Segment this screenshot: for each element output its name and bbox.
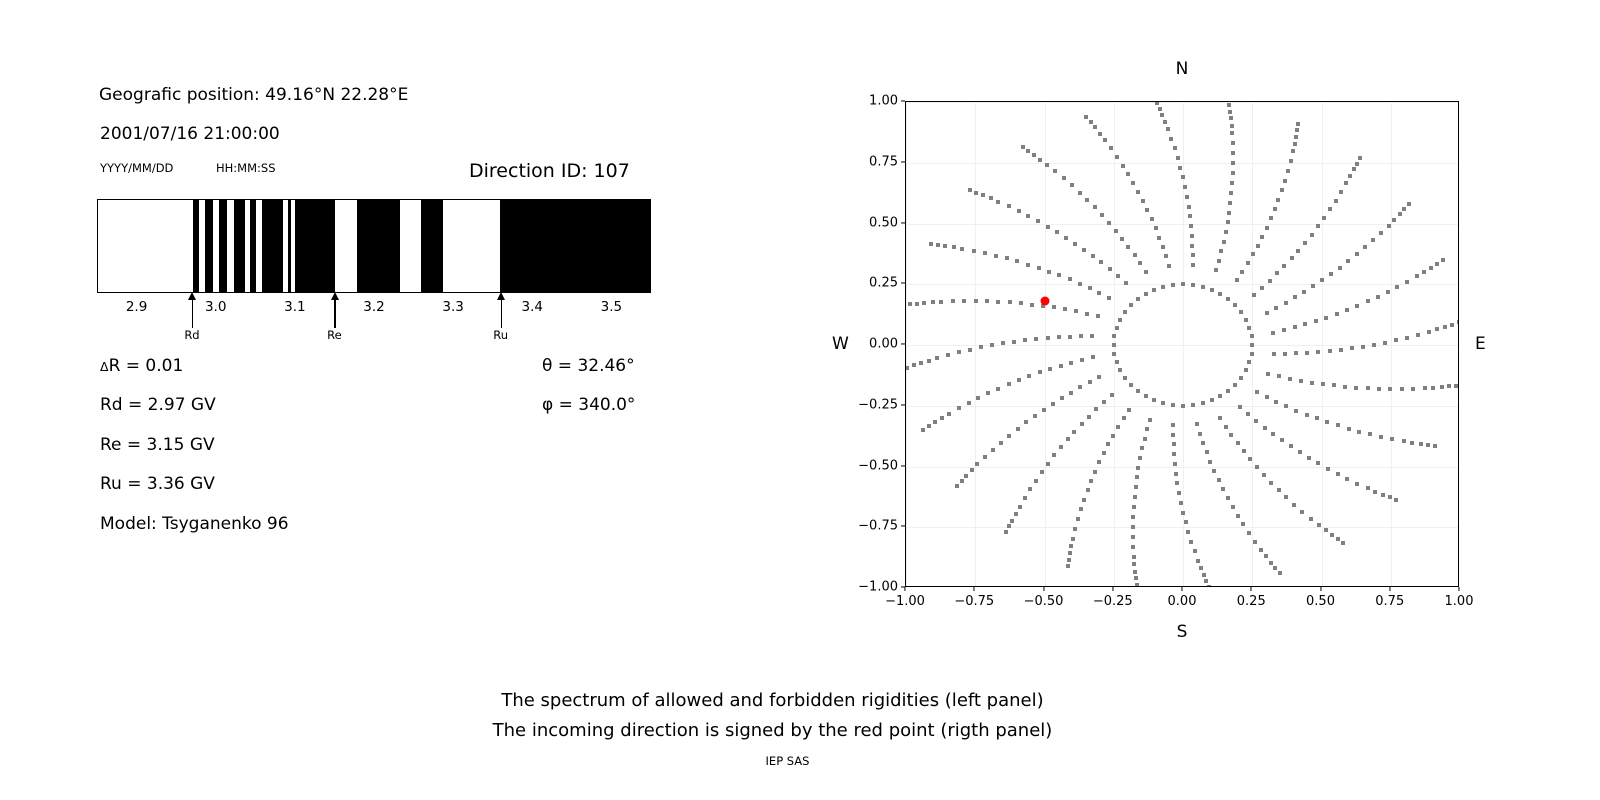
direction-dot (1098, 132, 1102, 136)
direction-dot (1435, 262, 1439, 266)
direction-dot (1381, 493, 1385, 497)
direction-dot (1199, 566, 1203, 570)
direction-dot (1426, 443, 1430, 447)
direction-dot (1034, 479, 1038, 483)
polar-x-tick-mark (1112, 587, 1113, 591)
direction-dot (1218, 292, 1222, 296)
direction-dot (1366, 386, 1370, 390)
direction-dot (1066, 437, 1070, 441)
marker-label: Rd (184, 328, 199, 342)
direction-dot (1250, 343, 1254, 347)
incoming-direction-point (1040, 297, 1049, 306)
direction-dot (1229, 433, 1233, 437)
direction-dot (1265, 311, 1269, 315)
direction-dot (1368, 432, 1372, 436)
spectrum-tick-label: 3.0 (205, 299, 226, 315)
direction-dot (1191, 253, 1195, 257)
direction-dot (1140, 446, 1144, 450)
direction-dot (1231, 141, 1235, 145)
direction-dot (957, 406, 961, 410)
direction-dot (1078, 385, 1082, 389)
polar-x-tick-label: 0.50 (1306, 594, 1335, 609)
footer-label: IEP SAS (0, 754, 1575, 768)
direction-dot (1440, 385, 1444, 389)
forbidden-band (250, 200, 256, 292)
direction-dot (1132, 555, 1136, 559)
direction-dot (1042, 408, 1046, 412)
direction-dot (1001, 341, 1005, 345)
forbidden-band (421, 200, 443, 292)
direction-dot (1057, 273, 1061, 277)
direction-dot (1171, 423, 1175, 427)
direction-dot (1219, 249, 1223, 253)
direction-dot (1376, 295, 1380, 299)
polar-x-tick-label: −1.00 (885, 594, 925, 609)
direction-dot (1226, 297, 1230, 301)
direction-dot (1161, 285, 1165, 289)
polar-y-tick-mark (901, 343, 905, 344)
direction-dot (1229, 116, 1233, 120)
direction-dot (1205, 450, 1209, 454)
direction-dot (1174, 472, 1178, 476)
direction-dot (1402, 439, 1406, 443)
direction-dot (936, 243, 940, 247)
direction-dot (1271, 432, 1275, 436)
direction-dot (1114, 229, 1118, 233)
direction-dot (1047, 270, 1051, 274)
direction-dot (1017, 378, 1021, 382)
direction-dot (1116, 425, 1120, 429)
direction-dot (1138, 261, 1142, 265)
direction-dot (1229, 191, 1233, 195)
param-ru: Ru = 3.36 GV (100, 474, 215, 494)
direction-dot (1454, 384, 1458, 388)
direction-dot (1429, 266, 1433, 270)
direction-dot (1283, 352, 1287, 356)
direction-dot (1027, 374, 1031, 378)
direction-dot (908, 302, 912, 306)
marker-label: Ru (493, 328, 508, 342)
compass-label-south: S (1177, 622, 1188, 642)
direction-dot (981, 193, 985, 197)
direction-dot (952, 245, 956, 249)
direction-dot (1271, 331, 1275, 335)
direction-dot (1247, 360, 1251, 364)
direction-dot (1094, 407, 1098, 411)
direction-dot (1097, 375, 1101, 379)
direction-dot (1352, 167, 1356, 171)
direction-dot (1277, 488, 1281, 492)
direction-dot (1276, 198, 1280, 202)
direction-dot (1457, 320, 1458, 324)
polar-x-tick-mark (1181, 587, 1182, 591)
compass-label-east: E (1475, 334, 1486, 354)
direction-dot (1088, 286, 1092, 290)
direction-dot (1293, 325, 1297, 329)
direction-dot (1348, 174, 1352, 178)
direction-dot (1435, 327, 1439, 331)
direction-dot (1242, 449, 1246, 453)
direction-dot (1388, 387, 1392, 391)
direction-dot (1079, 507, 1083, 511)
direction-dot (1201, 441, 1205, 445)
direction-dot (1357, 430, 1361, 434)
direction-dot (1089, 479, 1093, 483)
direction-dot (1282, 264, 1286, 268)
direction-dot (1028, 487, 1032, 491)
direction-dot (1166, 127, 1170, 131)
direction-dot (1298, 450, 1302, 454)
gridline-horizontal (906, 467, 1458, 468)
direction-dot (1284, 301, 1288, 305)
direction-dot (1383, 341, 1387, 345)
direction-dot (1269, 216, 1273, 220)
direction-dot (1007, 524, 1011, 528)
direction-dot (940, 416, 944, 420)
direction-dot (1121, 164, 1125, 168)
polar-y-tick-mark (901, 222, 905, 223)
direction-dot (1224, 230, 1228, 234)
direction-dot (1395, 285, 1399, 289)
direction-dot (1007, 434, 1011, 438)
direction-dot (1325, 420, 1329, 424)
direction-dot (1283, 179, 1287, 183)
direction-dot (1191, 283, 1195, 287)
direction-dot (1247, 326, 1251, 330)
direction-dot (1046, 336, 1050, 340)
direction-dot (1269, 481, 1273, 485)
direction-dot (1293, 295, 1297, 299)
direction-dot (1148, 418, 1152, 422)
direction-dot (1102, 451, 1106, 455)
direction-dot (1390, 437, 1394, 441)
direction-dot (1207, 585, 1211, 586)
direction-dot (1227, 103, 1231, 107)
direction-dot (1303, 241, 1307, 245)
direction-dot (1244, 368, 1248, 372)
direction-dot (994, 254, 998, 258)
direction-dot (1394, 498, 1398, 502)
direction-dot (1073, 242, 1077, 246)
direction-dot (1099, 260, 1103, 264)
direction-dot (1303, 322, 1307, 326)
direction-dot (1341, 541, 1345, 545)
direction-dot (1007, 204, 1011, 208)
direction-dot (1231, 151, 1235, 155)
direction-dot (1070, 183, 1074, 187)
marker-shaft (192, 298, 193, 328)
direction-dot (1152, 398, 1156, 402)
direction-dot (1226, 220, 1230, 224)
direction-dot (1256, 244, 1260, 248)
polar-x-tick-label: 0.25 (1237, 594, 1266, 609)
direction-dot (1026, 263, 1030, 267)
direction-dot (1136, 297, 1140, 301)
direction-dot (1377, 387, 1381, 391)
direction-dot (1131, 181, 1135, 185)
direction-dot (1326, 467, 1330, 471)
direction-dot (1248, 457, 1252, 461)
direction-dot (1181, 282, 1185, 286)
incoming-direction-panel: −1.00−0.75−0.50−0.250.000.250.500.751.00… (905, 101, 1459, 587)
direction-dot (1073, 527, 1077, 531)
direction-dot (1059, 364, 1063, 368)
direction-dot (1415, 274, 1419, 278)
direction-dot (1080, 422, 1084, 426)
direction-dot (1063, 307, 1067, 311)
polar-x-tick-mark (1320, 587, 1321, 591)
direction-dot (1136, 190, 1140, 194)
direction-dot (1091, 254, 1095, 258)
direction-dot (1262, 473, 1266, 477)
direction-dot (1038, 370, 1042, 374)
direction-dot (1069, 391, 1073, 395)
direction-dot (1339, 348, 1343, 352)
spectrum-tick-label: 3.4 (522, 299, 543, 315)
polar-y-tick-label: 1.00 (869, 94, 898, 109)
direction-dot (1300, 510, 1304, 514)
delta-symbol: Δ (100, 359, 109, 374)
direction-dot (1055, 230, 1059, 234)
gridline-vertical (1045, 102, 1046, 586)
direction-dot (1048, 367, 1052, 371)
direction-dot (1244, 318, 1248, 322)
param-theta: θ = 32.46° (542, 356, 635, 376)
direction-dot (1218, 416, 1222, 420)
direction-dot (1363, 245, 1367, 249)
direction-dot (1416, 333, 1420, 337)
direction-dot (1355, 162, 1359, 166)
direction-dot (960, 479, 964, 483)
direction-dot (1322, 216, 1326, 220)
direction-dot (1090, 334, 1094, 338)
direction-dot (1230, 124, 1234, 128)
polar-y-tick-label: 0.25 (869, 276, 898, 291)
marker-label: Re (327, 328, 342, 342)
direction-dot (1132, 562, 1136, 566)
direction-dot (1089, 120, 1093, 124)
direction-dot (1076, 517, 1080, 521)
rigidity-spectrum-chart (97, 199, 651, 293)
direction-dot (1103, 138, 1107, 142)
direction-dot (1102, 400, 1106, 404)
polar-plot-area (906, 102, 1458, 586)
direction-dot (1320, 278, 1324, 282)
direction-dot (1433, 444, 1437, 448)
direction-dot (1157, 236, 1161, 240)
direction-dot (962, 299, 966, 303)
direction-dot (927, 359, 931, 363)
direction-dot (933, 420, 937, 424)
direction-dot (991, 448, 995, 452)
direction-dot (1181, 511, 1185, 515)
figure-caption: The spectrum of allowed and forbidden ri… (0, 686, 1545, 746)
direction-dot (1046, 462, 1050, 466)
direction-dot (964, 474, 968, 478)
direction-dot (929, 242, 933, 246)
direction-dot (1084, 115, 1088, 119)
direction-dot (1250, 334, 1254, 338)
direction-dot (1210, 398, 1214, 402)
direction-dot (1108, 267, 1112, 271)
direction-dot (955, 484, 959, 488)
direction-dot (1338, 266, 1342, 270)
direction-dot (1314, 319, 1318, 323)
geographic-position-label: Geografic position: 49.16°N 22.28°E (99, 85, 408, 105)
direction-dot (1144, 292, 1148, 296)
direction-dot (947, 412, 951, 416)
direction-dot (1230, 131, 1234, 135)
direction-dot (1443, 325, 1447, 329)
direction-dot (1328, 349, 1332, 353)
direction-dot (1111, 434, 1115, 438)
direction-dot (1010, 519, 1014, 523)
direction-dot (1064, 236, 1068, 240)
direction-dot (1204, 579, 1208, 583)
direction-dot (1171, 283, 1175, 287)
compass-label-west: W (832, 334, 849, 354)
direction-dot (1185, 195, 1189, 199)
direction-dot (1233, 303, 1237, 307)
direction-dot (1431, 386, 1435, 390)
direction-dot (1145, 208, 1149, 212)
direction-dot (1144, 394, 1148, 398)
direction-dot (1266, 372, 1270, 376)
direction-dot (1109, 146, 1113, 150)
direction-dot (1172, 452, 1176, 456)
direction-dot (1294, 351, 1298, 355)
direction-dot (1067, 558, 1071, 562)
direction-dot (1167, 264, 1171, 268)
direction-dot (1026, 214, 1030, 218)
forbidden-band (205, 200, 213, 292)
polar-y-tick-label: 0.75 (869, 154, 898, 169)
direction-dot (1093, 470, 1097, 474)
direction-dot (996, 300, 1000, 304)
direction-dot (1241, 522, 1245, 526)
direction-dot (1447, 384, 1451, 388)
direction-dot (906, 366, 909, 370)
spectrum-tick-label: 2.9 (126, 299, 147, 315)
direction-dot (1231, 505, 1235, 509)
polar-y-tick-mark (901, 161, 905, 162)
direction-dot (1183, 185, 1187, 189)
spectrum-tick-label: 3.2 (363, 299, 384, 315)
direction-dot (1309, 517, 1313, 521)
direction-dot (1405, 280, 1409, 284)
direction-dot (1040, 470, 1044, 474)
direction-dot (1045, 163, 1049, 167)
direction-dot (1127, 408, 1131, 412)
direction-dot (1228, 110, 1232, 114)
polar-y-tick-mark (901, 283, 905, 284)
polar-y-tick-label: 0.00 (869, 337, 898, 352)
direction-dot (1093, 125, 1097, 129)
direction-dot (1133, 570, 1137, 574)
direction-dot (1074, 309, 1078, 313)
polar-y-tick-mark (901, 404, 905, 405)
polar-x-tick-label: −0.50 (1024, 594, 1064, 609)
direction-dot (1086, 488, 1090, 492)
direction-dot (1082, 498, 1086, 502)
direction-dot (1402, 207, 1406, 211)
direction-dot (1091, 355, 1095, 359)
direction-dot (1187, 205, 1191, 209)
direction-dot (985, 299, 989, 303)
direction-dot (1038, 158, 1042, 162)
direction-dot (1280, 438, 1284, 442)
direction-dot (1112, 352, 1116, 356)
direction-dot (979, 345, 983, 349)
direction-dot (1253, 540, 1257, 544)
direction-dot (1259, 548, 1263, 552)
direction-dot (1175, 481, 1179, 485)
polar-x-tick-label: 0.75 (1375, 594, 1404, 609)
direction-dot (1005, 256, 1009, 260)
direction-dot (1145, 427, 1149, 431)
direction-dot (1181, 404, 1185, 408)
direction-dot (1198, 432, 1202, 436)
direction-dot (1126, 172, 1130, 176)
direction-dot (943, 244, 947, 248)
direction-dot (1186, 530, 1190, 534)
direction-dot (1293, 142, 1297, 146)
direction-dot (1218, 394, 1222, 398)
direction-dot (1021, 145, 1025, 149)
direction-dot (1317, 523, 1321, 527)
direction-dot (1222, 240, 1226, 244)
direction-dot (1288, 377, 1292, 381)
direction-dot (935, 356, 939, 360)
direction-dot (1115, 360, 1119, 364)
direction-dot (1344, 181, 1348, 185)
spectrum-plot-frame (97, 199, 651, 293)
direction-dot (1260, 235, 1264, 239)
direction-dot (1134, 485, 1138, 489)
direction-dot (1158, 107, 1162, 111)
direction-dot (1295, 128, 1299, 132)
direction-dot (1290, 256, 1294, 260)
direction-dot (1358, 156, 1362, 160)
param-model: Model: Tsyganenko 96 (100, 514, 289, 534)
direction-dot (968, 348, 972, 352)
direction-dot (1030, 303, 1034, 307)
direction-dot (1136, 389, 1140, 393)
compass-label-north: N (1176, 59, 1189, 79)
direction-dot (1214, 268, 1218, 272)
direction-dot (1123, 310, 1127, 314)
direction-dot (1132, 505, 1136, 509)
param-re: Re = 3.15 GV (100, 435, 215, 455)
direction-dot (1179, 501, 1183, 505)
direction-dot (1330, 533, 1334, 537)
direction-dot (1118, 368, 1122, 372)
spectrum-tick-label: 3.3 (442, 299, 463, 315)
spectrum-marker-rd: Rd (192, 292, 193, 332)
direction-dot (999, 441, 1003, 445)
direction-dot (1012, 340, 1016, 344)
direction-dot (1066, 564, 1070, 568)
direction-dot (1233, 383, 1237, 387)
direction-dot (1289, 444, 1293, 448)
direction-dot (1019, 301, 1023, 305)
direction-dot (1296, 249, 1300, 253)
direction-dot (996, 387, 1000, 391)
direction-dot (1115, 155, 1119, 159)
direction-dot (1190, 244, 1194, 248)
direction-dot (1278, 571, 1282, 575)
direction-dot (1085, 198, 1089, 202)
